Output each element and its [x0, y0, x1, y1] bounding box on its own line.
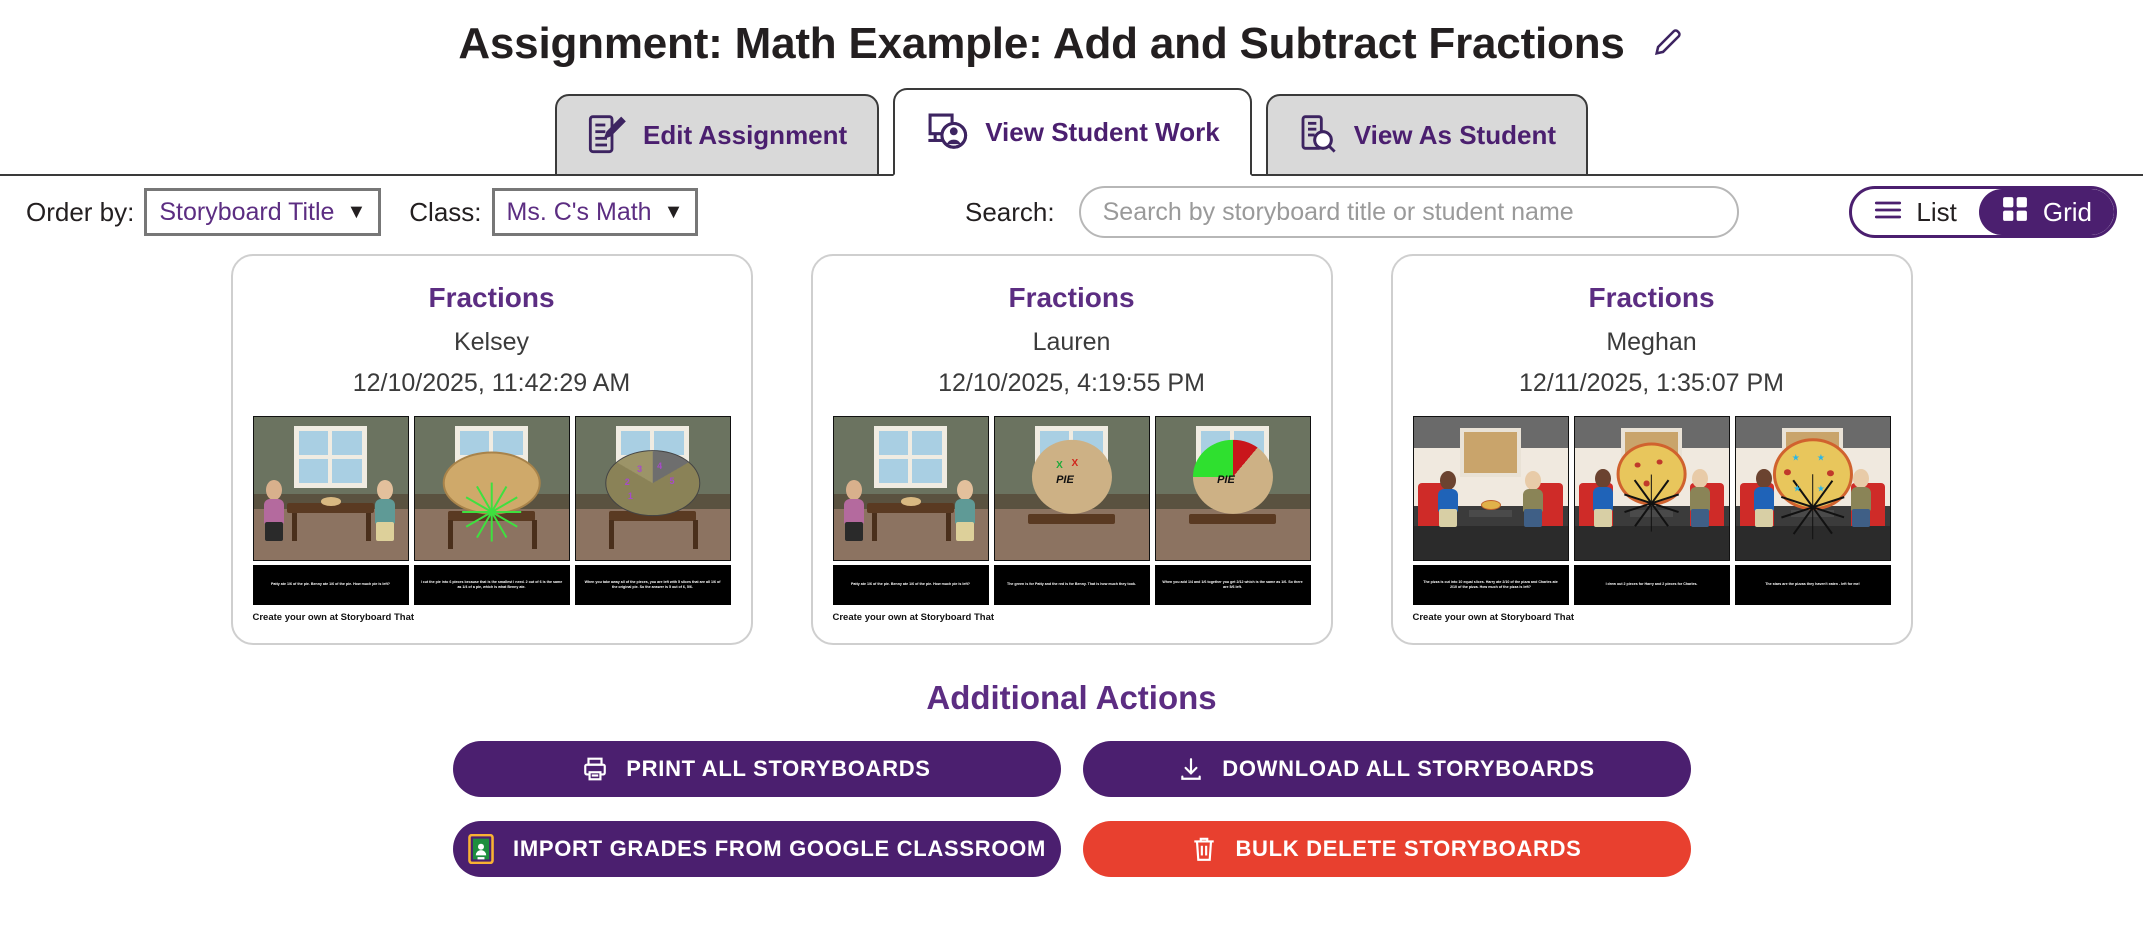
bulk-delete-storyboards-button[interactable]: BULK DELETE STORYBOARDS [1083, 821, 1691, 877]
tab-label: Edit Assignment [643, 120, 847, 151]
chevron-down-icon: ▼ [346, 202, 366, 222]
view-mode-list[interactable]: List [1852, 189, 1978, 235]
printer-icon [582, 756, 608, 782]
storyboard-title: Fractions [428, 282, 554, 314]
page-title: Assignment: Math Example: Add and Subtra… [458, 19, 1624, 69]
print-all-storyboards-button[interactable]: PRINT ALL STORYBOARDS [453, 741, 1061, 797]
panel-art-pie-segments: 3 4 2 5 1 [575, 416, 731, 561]
panel-art-pizza-slices [1574, 416, 1730, 561]
submission-date: 12/11/2025, 1:35:07 PM [1519, 369, 1784, 398]
storyboard-card[interactable]: Fractions Lauren 12/10/2025, 4:19:55 PM [811, 254, 1333, 645]
document-magnifier-icon [1298, 113, 1338, 157]
google-classroom-icon [467, 834, 495, 864]
filter-toolbar: Order by: Storyboard Title ▼ Class: Ms. … [0, 176, 2143, 248]
panel-caption: I drew out 2 pieces for Harry and 2 piec… [1574, 565, 1730, 605]
class-select[interactable]: Ms. C's Math ▼ [492, 188, 699, 236]
storyboard-title: Fractions [1008, 282, 1134, 314]
tab-bar: Edit Assignment View Student Work [0, 82, 2143, 176]
edit-document-icon [587, 113, 627, 157]
view-mode-grid[interactable]: Grid [1979, 189, 2114, 235]
trash-icon [1191, 835, 1217, 863]
panel-art-living-room [833, 416, 989, 561]
panel-art-pie-colored: PIE [1155, 416, 1311, 561]
panel-art-pizza-stars: ★ ★ ★ ★ [1735, 416, 1891, 561]
tab-view-student-work[interactable]: View Student Work [893, 88, 1252, 176]
storyboard-card-grid: Fractions Kelsey 12/10/2025, 11:42:29 AM [0, 254, 2143, 645]
student-name: Meghan [1606, 328, 1696, 357]
panel-art-pie-sliced [414, 416, 570, 561]
storyboard-thumbnail[interactable]: Patty ate 1/6 of the pie. Benny ate 1/6 … [833, 416, 1311, 623]
panel-caption: When you take away all of the pieces, yo… [575, 565, 731, 605]
storyboard-title: Fractions [1588, 282, 1714, 314]
storyboard-card[interactable]: Fractions Kelsey 12/10/2025, 11:42:29 AM [231, 254, 753, 645]
panel-caption: The green is for Patty and the red is fo… [994, 565, 1150, 605]
view-mode-grid-label: Grid [2043, 197, 2092, 228]
tab-label: View As Student [1354, 120, 1556, 151]
storyboard-panel: X X PIE The green is for Patty and the r… [994, 416, 1150, 605]
page-header: Assignment: Math Example: Add and Subtra… [0, 0, 2143, 82]
button-label: BULK DELETE STORYBOARDS [1235, 836, 1581, 862]
storyboard-panel: Patty ate 1/6 of the pie. Benny ate 1/6 … [833, 416, 989, 605]
tab-label: View Student Work [985, 117, 1220, 148]
import-grades-google-classroom-button[interactable]: IMPORT GRADES FROM GOOGLE CLASSROOM [453, 821, 1061, 877]
student-name: Kelsey [454, 328, 529, 357]
order-by-value: Storyboard Title [159, 198, 334, 227]
actions-row-2: IMPORT GRADES FROM GOOGLE CLASSROOM BULK… [0, 821, 2143, 877]
additional-actions-heading: Additional Actions [0, 679, 2143, 717]
grid-icon [2001, 196, 2029, 229]
panel-caption: When you add 1/4 and 1/6 together you ge… [1155, 565, 1311, 605]
actions-row-1: PRINT ALL STORYBOARDS DOWNLOAD ALL STORY… [0, 741, 2143, 797]
storyboard-panel: I drew out 2 pieces for Harry and 2 piec… [1574, 416, 1730, 605]
panel-art-pie-xmarks: X X PIE [994, 416, 1150, 561]
panel-caption: The stars are the pizzas they haven't ea… [1735, 565, 1891, 605]
class-label: Class: [409, 197, 481, 228]
storyboard-panel: 3 4 2 5 1 When you take away all of the … [575, 416, 731, 605]
button-label: PRINT ALL STORYBOARDS [626, 756, 930, 782]
download-icon [1178, 756, 1204, 782]
download-all-storyboards-button[interactable]: DOWNLOAD ALL STORYBOARDS [1083, 741, 1691, 797]
storyboard-thumbnail[interactable]: Patty ate 1/6 of the pie. Benny ate 1/6 … [253, 416, 731, 623]
storyboard-panel: ★ ★ ★ ★ [1735, 416, 1891, 605]
panel-caption: The pizza is cut into 10 equal slices. H… [1413, 565, 1569, 605]
panel-art-living-room [253, 416, 409, 561]
tab-edit-assignment[interactable]: Edit Assignment [555, 94, 879, 176]
storyboard-footer: Create your own at Storyboard That [833, 612, 1311, 623]
storyboard-panel: Patty ate 1/6 of the pie. Benny ate 1/6 … [253, 416, 409, 605]
list-icon [1874, 197, 1902, 228]
panel-art-pizzeria [1413, 416, 1569, 561]
chevron-down-icon: ▼ [664, 202, 684, 222]
storyboard-thumbnail[interactable]: The pizza is cut into 10 equal slices. H… [1413, 416, 1891, 623]
view-mode-toggle[interactable]: List Grid [1849, 186, 2117, 238]
storyboard-panel: I cut the pie into 6 pieces because that… [414, 416, 570, 605]
storyboard-footer: Create your own at Storyboard That [253, 612, 731, 623]
class-value: Ms. C's Math [507, 198, 652, 227]
storyboard-panel: The pizza is cut into 10 equal slices. H… [1413, 416, 1569, 605]
student-name: Lauren [1033, 328, 1111, 357]
order-by-select[interactable]: Storyboard Title ▼ [144, 188, 381, 236]
submission-date: 12/10/2025, 4:19:55 PM [938, 369, 1205, 398]
button-label: IMPORT GRADES FROM GOOGLE CLASSROOM [513, 836, 1046, 862]
pencil-icon[interactable] [1651, 25, 1685, 64]
order-by-label: Order by: [26, 197, 134, 228]
tab-view-as-student[interactable]: View As Student [1266, 94, 1588, 176]
panel-caption: Patty ate 1/6 of the pie. Benny ate 1/6 … [253, 565, 409, 605]
button-label: DOWNLOAD ALL STORYBOARDS [1222, 756, 1594, 782]
panel-caption: Patty ate 1/6 of the pie. Benny ate 1/6 … [833, 565, 989, 605]
submission-date: 12/10/2025, 11:42:29 AM [353, 369, 631, 398]
storyboard-footer: Create your own at Storyboard That [1413, 612, 1891, 623]
search-label: Search: [965, 197, 1055, 228]
search-input[interactable] [1079, 186, 1739, 238]
search-area: Search: [965, 186, 1739, 238]
storyboard-panel: PIE When you add 1/4 and 1/6 together yo… [1155, 416, 1311, 605]
storyboard-card[interactable]: Fractions Meghan 12/11/2025, 1:35:07 PM [1391, 254, 1913, 645]
panel-caption: I cut the pie into 6 pieces because that… [414, 565, 570, 605]
view-mode-list-label: List [1916, 197, 1956, 228]
monitor-person-icon [925, 110, 969, 154]
